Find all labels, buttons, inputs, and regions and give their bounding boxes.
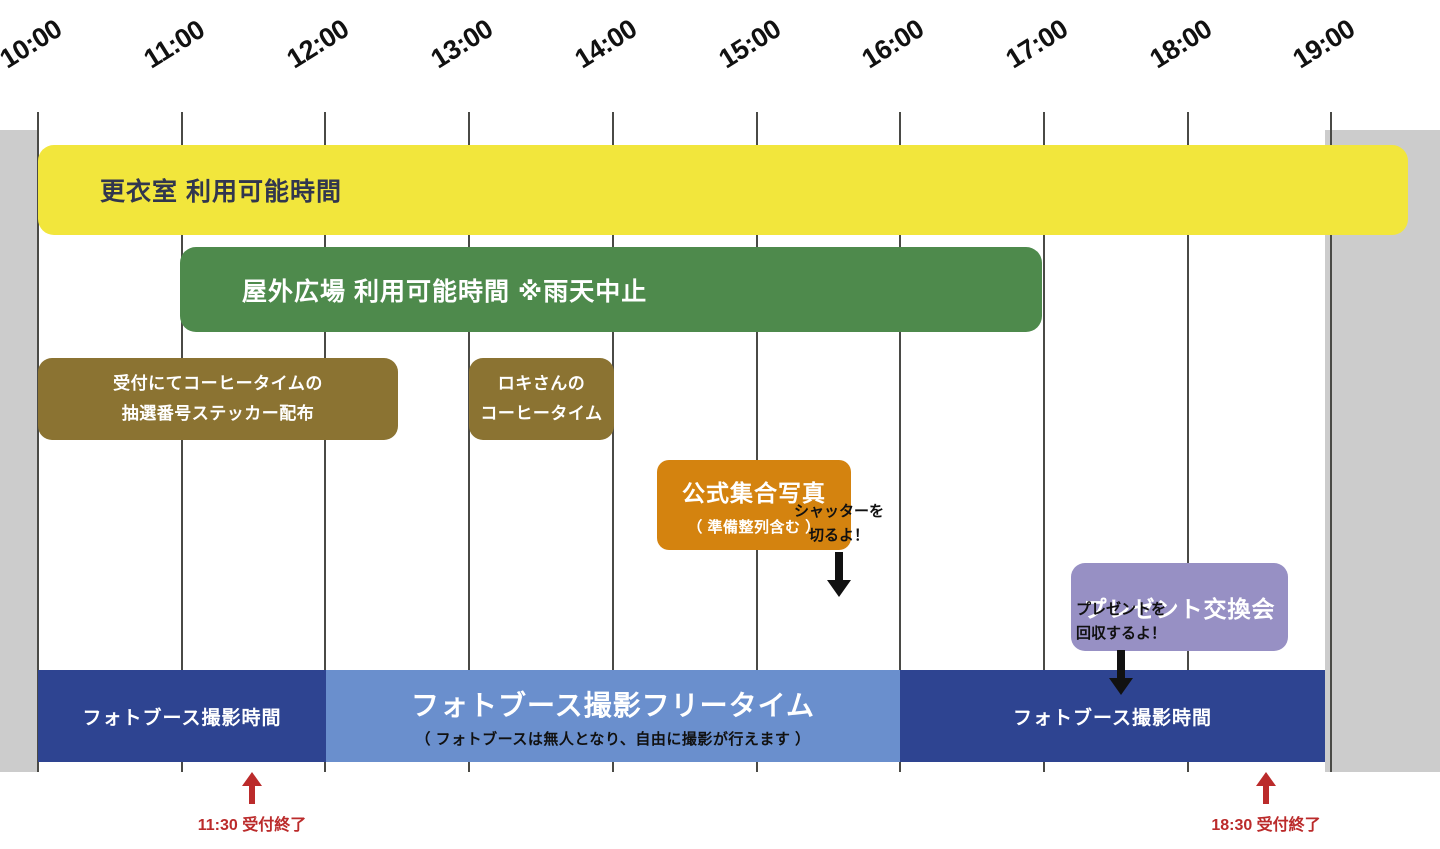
hour-tick-label: 15:00: [713, 13, 786, 75]
marker-label: 18:30 受付終了: [1176, 811, 1356, 835]
schedule-bar-outdoor-plaza[interactable]: 屋外広場 利用可能時間 ※雨天中止: [180, 247, 1042, 332]
bar-sublabel: 抽選番号ステッカー配布: [122, 399, 315, 429]
bar-label: フォトブース撮影時間: [1013, 703, 1212, 730]
left-gutter-shade: [0, 130, 38, 772]
chart-plot-area: 更衣室 利用可能時間屋外広場 利用可能時間 ※雨天中止受付にてコーヒータイムの抽…: [0, 130, 1440, 772]
annotation-line-1: シャッターを: [774, 500, 904, 524]
annotation-line-2: 回収するよ！: [1056, 622, 1186, 646]
marker-reception-close-morning: 11:30 受付終了: [162, 772, 342, 835]
bar-label: ロキさんの: [498, 369, 586, 399]
arrow-up-icon: [1176, 772, 1356, 809]
hour-tick-label: 11:00: [138, 14, 210, 75]
marker-label: 11:30 受付終了: [162, 811, 342, 835]
annotation-line-1: プレゼントを: [1056, 598, 1186, 622]
hour-tick-label: 10:00: [0, 13, 67, 75]
hour-tick-label: 14:00: [569, 13, 642, 75]
schedule-bar-roki-coffee-time[interactable]: ロキさんのコーヒータイム: [469, 358, 614, 440]
bar-label: フォトブース撮影フリータイム: [411, 684, 815, 724]
hour-tick-label: 12:00: [282, 13, 355, 75]
annotation-line-2: 切るよ！: [774, 524, 904, 548]
annotation-shutter-note: シャッターを切るよ！: [774, 500, 904, 606]
bar-label: 更衣室 利用可能時間: [100, 172, 1408, 208]
bar-label: 受付にてコーヒータイムの: [113, 369, 323, 399]
schedule-bar-photobooth-early[interactable]: フォトブース撮影時間: [38, 670, 326, 762]
arrow-down-icon: [1056, 650, 1186, 704]
hour-tick-label: 17:00: [1000, 13, 1073, 75]
hour-tick-label: 19:00: [1288, 13, 1361, 75]
bar-sublabel: コーヒータイム: [480, 399, 602, 429]
annotation-present-collect-note: プレゼントを回収するよ！: [1056, 598, 1186, 704]
hour-tick-label: 16:00: [857, 13, 930, 75]
bar-sublabel: （ フォトブースは無人となり、自由に撮影が行えます ）: [415, 728, 810, 749]
hour-tick-label: 13:00: [426, 13, 499, 75]
arrow-down-icon: [774, 552, 904, 606]
marker-reception-close-evening: 18:30 受付終了: [1176, 772, 1356, 835]
schedule-bar-coffee-sticker[interactable]: 受付にてコーヒータイムの抽選番号ステッカー配布: [38, 358, 398, 440]
schedule-bar-changing-room[interactable]: 更衣室 利用可能時間: [38, 145, 1408, 235]
arrow-up-icon: [162, 772, 342, 809]
bar-label: フォトブース撮影時間: [82, 703, 281, 730]
bar-label: 屋外広場 利用可能時間 ※雨天中止: [242, 272, 1042, 308]
hour-tick-label: 18:00: [1144, 13, 1217, 75]
schedule-bar-photobooth-free[interactable]: フォトブース撮影フリータイム（ フォトブースは無人となり、自由に撮影が行えます …: [326, 670, 900, 762]
timetable-chart: 10:0011:0012:0013:0014:0015:0016:0017:00…: [0, 0, 1440, 849]
